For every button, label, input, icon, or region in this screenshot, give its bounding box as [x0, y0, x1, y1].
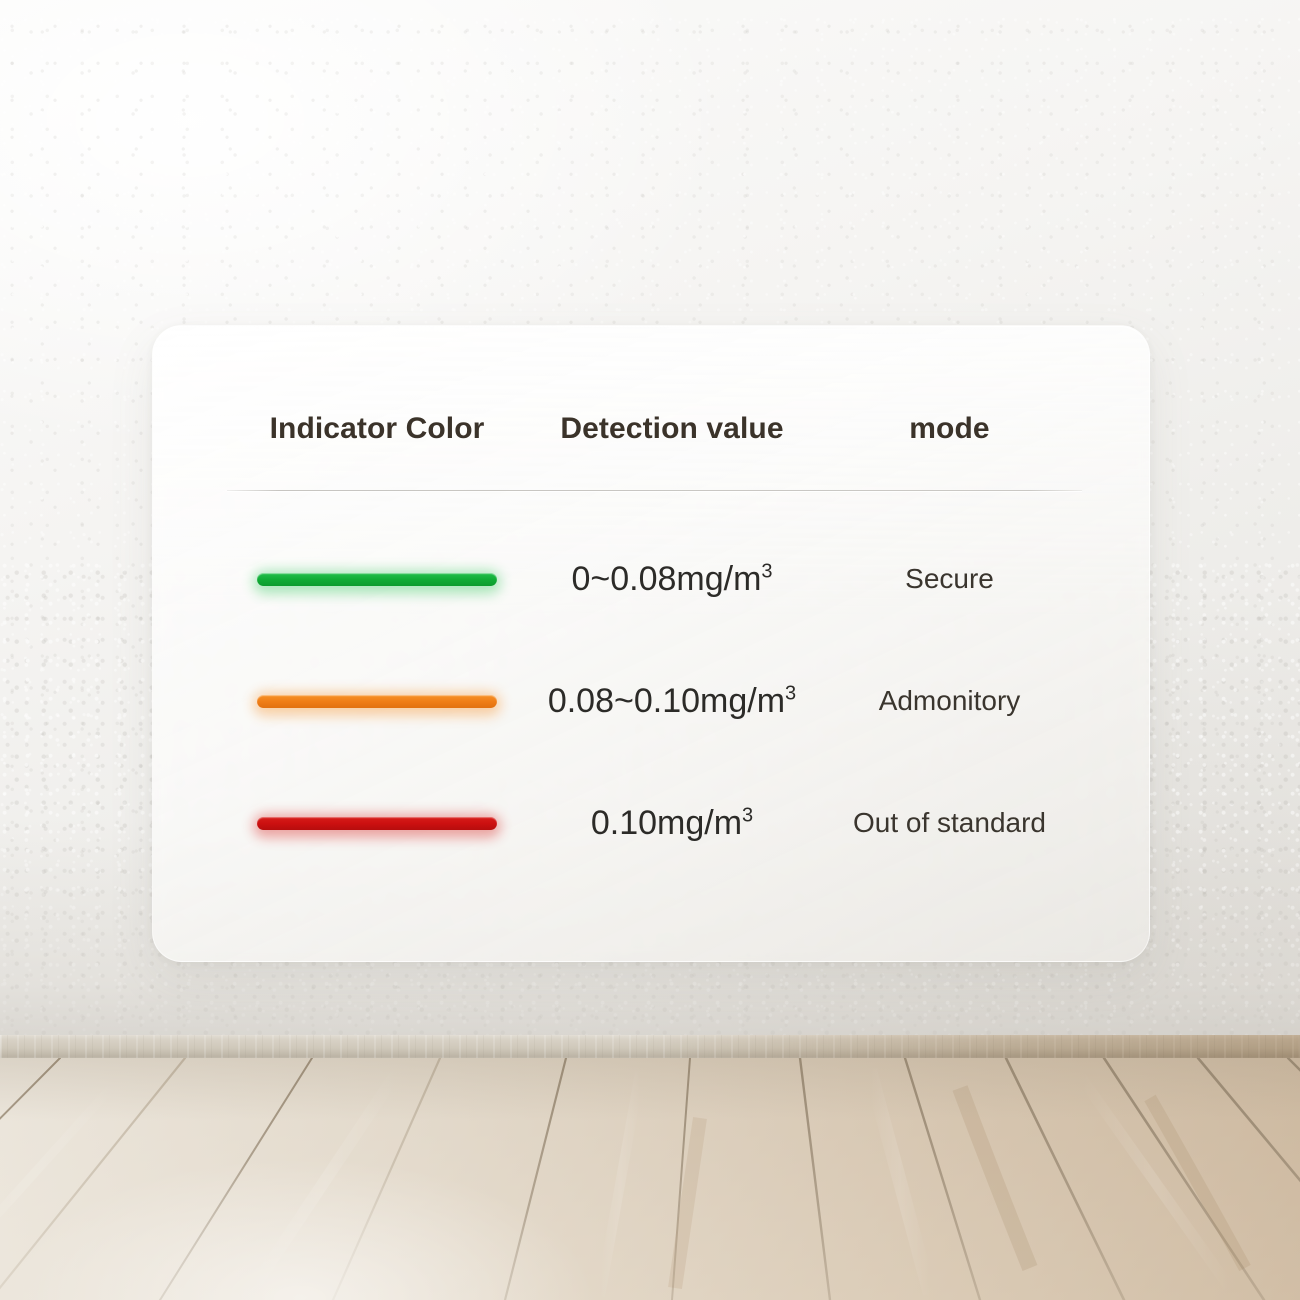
- header-cell-indicator: Indicator Color: [227, 412, 527, 446]
- header-cell-mode: mode: [817, 412, 1082, 446]
- scene-root: Indicator Color Detection value mode 0~0…: [0, 0, 1300, 1300]
- mode-text: Out of standard: [853, 807, 1046, 839]
- cell-detection-value: 0.10mg/m3: [527, 804, 817, 843]
- table-header-row: Indicator Color Detection value mode: [227, 400, 1082, 458]
- cell-mode: Admonitory: [817, 685, 1082, 717]
- detection-value-text: 0~0.08mg/m3: [571, 560, 772, 599]
- baseboard-warm-overlay: [640, 1035, 1300, 1059]
- baseboard-trim: [0, 1035, 1300, 1059]
- detection-value-number: 0.10mg/m: [591, 804, 742, 842]
- header-cell-value: Detection value: [527, 412, 817, 446]
- table-row: 0.10mg/m3 Out of standard: [227, 762, 1082, 884]
- detection-value-exponent: 3: [742, 804, 753, 826]
- detection-value-text: 0.08~0.10mg/m3: [548, 682, 796, 721]
- header-mode: mode: [909, 412, 989, 446]
- table-row: 0.08~0.10mg/m3 Admonitory: [227, 640, 1082, 762]
- detection-value-exponent: 3: [761, 560, 772, 582]
- indicator-bar-red: [257, 817, 497, 830]
- header-indicator-color: Indicator Color: [270, 412, 485, 446]
- cell-indicator: [227, 817, 527, 830]
- floor-light-sheen: [0, 1058, 1300, 1300]
- cell-detection-value: 0~0.08mg/m3: [527, 560, 817, 599]
- indicator-bar-green: [257, 573, 497, 586]
- table-row: 0~0.08mg/m3 Secure: [227, 518, 1082, 640]
- cell-mode: Out of standard: [817, 807, 1082, 839]
- wood-floor: [0, 1058, 1300, 1300]
- cell-detection-value: 0.08~0.10mg/m3: [527, 682, 817, 721]
- header-divider-line: [227, 490, 1082, 491]
- detection-value-text: 0.10mg/m3: [591, 804, 753, 843]
- detection-value-number: 0~0.08mg/m: [571, 560, 761, 598]
- mode-text: Secure: [905, 563, 994, 595]
- header-detection-value: Detection value: [560, 412, 783, 446]
- legend-card: Indicator Color Detection value mode 0~0…: [152, 325, 1150, 962]
- detection-value-number: 0.08~0.10mg/m: [548, 682, 785, 720]
- indicator-bar-orange: [257, 695, 497, 708]
- detection-value-exponent: 3: [785, 682, 796, 704]
- indicator-legend-table: Indicator Color Detection value mode 0~0…: [227, 400, 1082, 884]
- cell-mode: Secure: [817, 563, 1082, 595]
- mode-text: Admonitory: [879, 685, 1021, 717]
- cell-indicator: [227, 695, 527, 708]
- cell-indicator: [227, 573, 527, 586]
